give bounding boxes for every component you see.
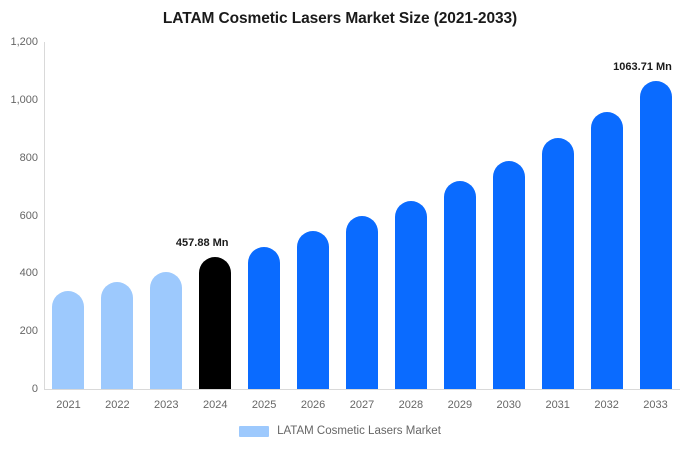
bar-2022[interactable] [101,282,133,389]
y-axis-tick-label: 0 [0,383,38,395]
chart-title: LATAM Cosmetic Lasers Market Size (2021-… [0,10,680,28]
y-axis: 02004006008001,0001,200 [0,0,38,450]
bar-2028[interactable] [395,201,427,389]
x-axis-tick-label: 2021 [56,399,80,411]
x-axis-tick-label: 2026 [301,399,325,411]
bar-2024[interactable] [199,257,231,389]
bar-2023[interactable] [150,272,182,389]
x-axis-tick-label: 2025 [252,399,276,411]
x-axis-tick-label: 2030 [497,399,521,411]
chart-legend[interactable]: LATAM Cosmetic Lasers Market [0,425,680,437]
bar-2026[interactable] [297,231,329,389]
bar-2027[interactable] [346,216,378,389]
bar-2029[interactable] [444,181,476,389]
x-axis-tick-label: 2023 [154,399,178,411]
bar-2033[interactable] [640,81,672,389]
bars-layer: 457.88 Mn1063.71 Mn [44,42,680,389]
y-axis-tick-label: 400 [0,267,38,279]
bar-value-label-2033: 1063.71 Mn [613,61,672,73]
bar-2031[interactable] [542,138,574,389]
y-axis-tick-label: 600 [0,210,38,222]
bar-2032[interactable] [591,112,623,389]
x-axis-tick-label: 2028 [399,399,423,411]
y-axis-tick-label: 1,200 [0,36,38,48]
legend-swatch [239,426,269,437]
x-axis-tick-label: 2029 [448,399,472,411]
x-axis: 2021202220232024202520262027202820292030… [44,399,680,417]
x-axis-tick-label: 2033 [643,399,667,411]
bar-value-label-2024: 457.88 Mn [176,237,229,249]
bar-2025[interactable] [248,247,280,389]
x-axis-tick-label: 2024 [203,399,227,411]
chart-container: LATAM Cosmetic Lasers Market Size (2021-… [0,0,680,450]
x-axis-tick-label: 2022 [105,399,129,411]
bar-2030[interactable] [493,161,525,389]
y-axis-tick-label: 1,000 [0,94,38,106]
x-axis-tick-label: 2027 [350,399,374,411]
y-axis-tick-label: 800 [0,152,38,164]
y-axis-tick-label: 200 [0,325,38,337]
x-axis-line [44,389,680,390]
x-axis-tick-label: 2031 [545,399,569,411]
bar-2021[interactable] [52,291,84,389]
x-axis-tick-label: 2032 [594,399,618,411]
legend-label: LATAM Cosmetic Lasers Market [277,425,441,437]
